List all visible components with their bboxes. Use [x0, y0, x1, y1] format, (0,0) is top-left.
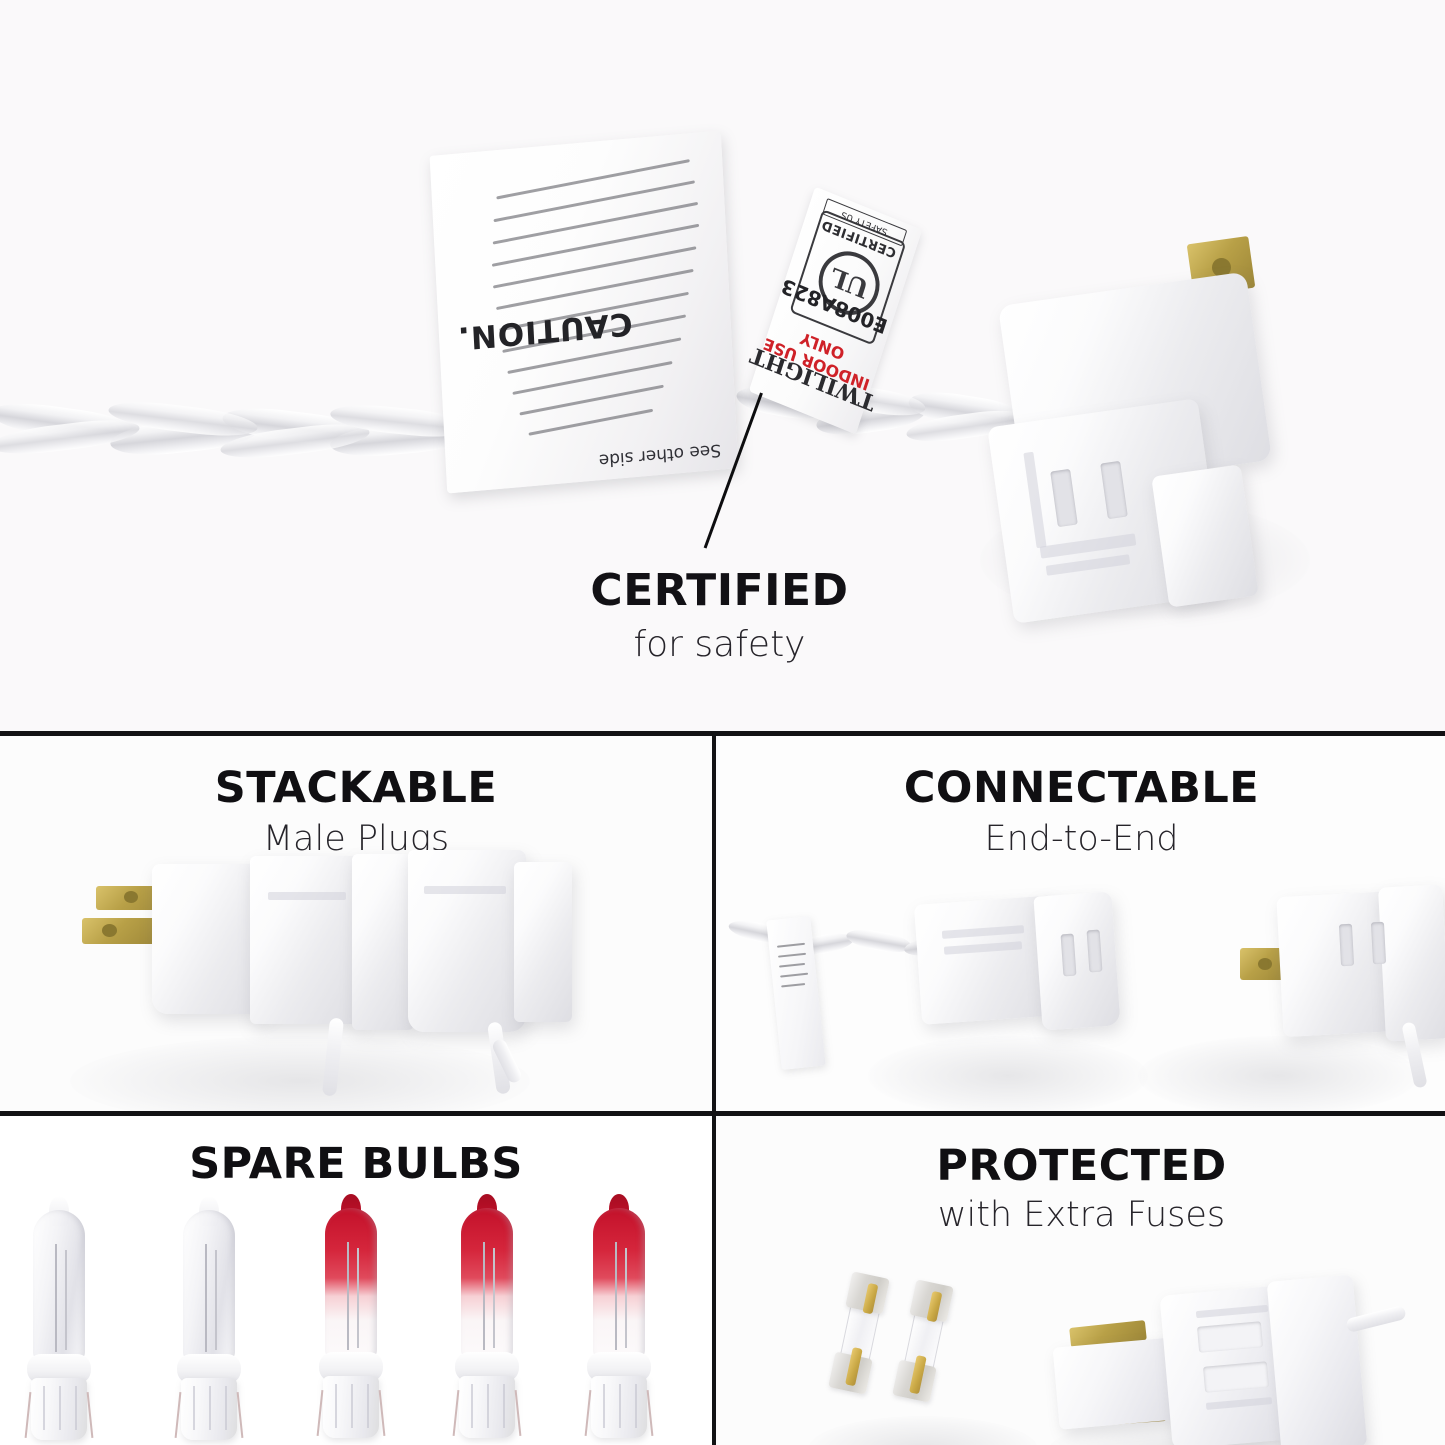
certified-subheading: for safety — [0, 624, 1445, 665]
connectable-subheading: End-to-End — [718, 818, 1445, 860]
panel-connectable: CONNECTABLE End-to-End — [718, 736, 1445, 1111]
infographic-page: PLUG FEATURES — [0, 0, 1445, 1445]
spare-bulbs-heading: SPARE BULBS — [0, 1140, 712, 1188]
panel-certified: CAUTION. See other side SAFETY US CERTIF… — [0, 0, 1445, 731]
caution-tag-heading: CAUTION. — [456, 305, 633, 356]
protected-heading: PROTECTED — [718, 1142, 1445, 1190]
fuse-cartridge — [824, 1271, 894, 1396]
bulb-clear — [165, 1210, 253, 1440]
certified-heading: CERTIFIED — [0, 565, 1445, 616]
bulb-red — [443, 1208, 531, 1438]
connectable-heading: CONNECTABLE — [718, 764, 1445, 812]
caution-tag: CAUTION. See other side — [430, 130, 739, 493]
bulb-clear — [15, 1210, 103, 1440]
divider-vertical-lower — [712, 1114, 716, 1445]
fuse-door-slot — [1197, 1321, 1263, 1352]
caution-tag-footer: See other side — [599, 439, 722, 470]
panel-protected: PROTECTED with Extra Fuses — [718, 1116, 1445, 1445]
panel-spare-bulbs: SPARE BULBS — [0, 1116, 712, 1445]
bulb-red — [307, 1208, 395, 1438]
fuse-cartridge — [888, 1279, 958, 1404]
protected-subheading: with Extra Fuses — [718, 1194, 1445, 1236]
stackable-heading: STACKABLE — [0, 764, 712, 812]
divider-vertical-upper — [712, 734, 716, 1111]
panel-stackable: STACKABLE Male Plugs — [0, 736, 712, 1111]
bulb-red — [575, 1208, 663, 1438]
plug-prong-icon — [82, 918, 160, 944]
